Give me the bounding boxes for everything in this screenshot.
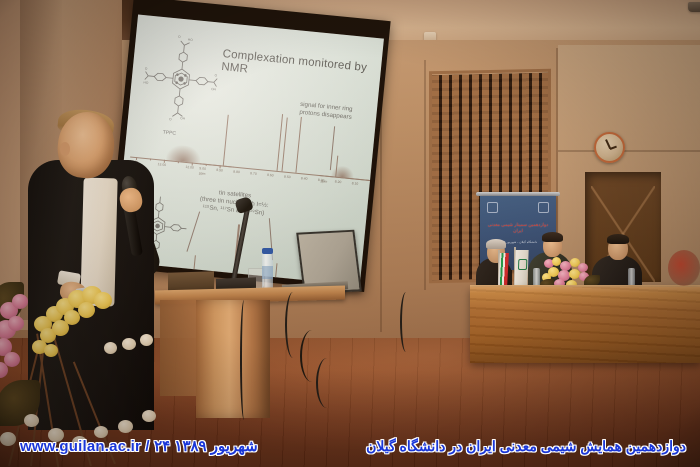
floor-cable-1 [285, 292, 301, 358]
flower-petal-cream [140, 334, 153, 346]
nmr-axis-2-tick-4: 8.60 [267, 173, 274, 178]
wall-clock [594, 132, 625, 163]
nmr-broad-peak [331, 165, 354, 178]
flower-petal-cream [0, 432, 16, 446]
website-and-date-caption: www.guilan.ac.ir / ۲۴ شهریور ۱۳۸۹ [20, 437, 258, 455]
nmr-axis-2-tick-1: 8.90 [216, 168, 223, 173]
nmr-spectrum-4 [319, 151, 373, 181]
right-floral-decoration [668, 250, 700, 286]
svg-text:OH: OH [211, 87, 217, 92]
ceiling-vent [688, 2, 700, 12]
floor-cable-5 [240, 300, 248, 420]
lectern-column [196, 300, 270, 418]
floor-cable-3 [316, 358, 338, 408]
conference-title-caption: دوازدهمین همایش شیمی معدنی ایران در دانش… [366, 438, 686, 455]
panelist-hair-3 [607, 234, 629, 244]
podium-nameplate [168, 271, 214, 291]
svg-text:HO: HO [188, 38, 194, 42]
nmr-axis-2-tick-8: 8.20 [335, 180, 342, 185]
flower-petal-yellow [44, 344, 58, 357]
banner-logo-right [538, 202, 549, 213]
university-emblem [518, 259, 527, 270]
slide-title: Complexation monitored by NMR [221, 48, 384, 90]
svg-text:O: O [178, 35, 181, 39]
flower-petal-pink [12, 294, 28, 309]
bouquet-petal [578, 263, 588, 272]
flower-petal-cream [104, 342, 117, 354]
svg-text:O: O [169, 117, 172, 121]
svg-text:O: O [214, 73, 217, 77]
iran-flag [498, 253, 509, 287]
table-wood-grain [470, 287, 700, 363]
panelist-hair-1 [486, 239, 506, 249]
nmr-peak [275, 263, 278, 277]
flower-petal-yellow [94, 292, 112, 309]
nmr-broad-peak [166, 144, 201, 163]
flower-petal-cream [122, 338, 136, 350]
nmr-axis-2-tick-9: 8.10 [351, 181, 358, 186]
banner-title: دوازدهمین سمینار شیمی معدنی ایران [485, 222, 551, 233]
nmr-axis-2-tick-3: 8.70 [250, 171, 257, 176]
panel-head-table [470, 287, 700, 363]
nmr-axis-2-tick-5: 8.50 [284, 175, 291, 180]
water-bottle-label [262, 266, 273, 279]
nmr-peak [295, 117, 302, 173]
slide-annotation-tin-satellites: tin satellites (three tin nuclei with I=… [179, 186, 289, 221]
banner-logo-left [487, 202, 498, 213]
nmr-axis-1-tick-1: 13.00 [157, 162, 166, 167]
nmr-axis-2-tick-6: 8.40 [301, 176, 308, 181]
svg-text:HO: HO [143, 80, 149, 84]
nmr-axis-1-tick-2: 12.00 [185, 165, 194, 170]
speaker-ear [60, 142, 70, 156]
flower-petal-cream [24, 414, 39, 427]
flower-petal-cream [118, 420, 133, 433]
nmr-axis-4-unit: ppm [321, 179, 328, 184]
university-flag [514, 250, 528, 287]
nmr-peak [281, 118, 288, 172]
nmr-axis-3-tick-3: 7.50 [273, 279, 280, 284]
wall-seam-3 [558, 150, 700, 152]
flower-petal-cream [142, 410, 156, 422]
nmr-axis-2-unit: ppm [199, 171, 206, 176]
water-bottle-cap [262, 248, 273, 254]
clock-minute-hand [605, 139, 611, 149]
svg-text:O: O [145, 66, 148, 70]
flower-petal-pink [8, 316, 24, 331]
svg-text:OH: OH [180, 116, 186, 121]
flower-petal-yellow [78, 302, 95, 318]
nmr-peak [223, 115, 229, 166]
conference-photo: HO O O HO O OH OH O TPPC [0, 0, 700, 467]
panelist-hair-2 [542, 232, 563, 242]
nmr-peak [194, 255, 197, 269]
wall-seam-2 [424, 60, 426, 290]
nmr-axis-2-tick-2: 8.80 [233, 170, 240, 175]
floor-cable-4 [400, 292, 412, 352]
nmr-axis-2-tick-0: 9.00 [199, 166, 206, 171]
